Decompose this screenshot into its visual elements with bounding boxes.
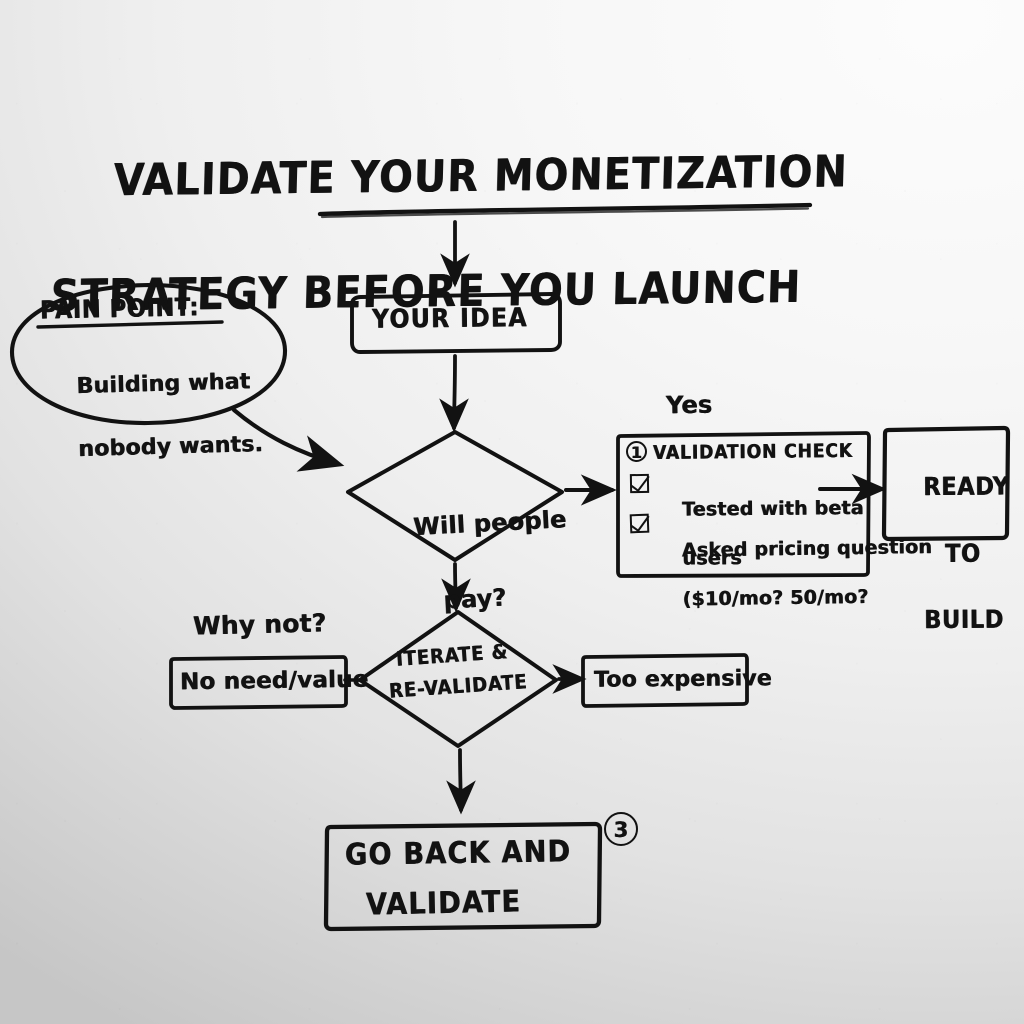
pain-point-heading: PAIN POINT: — [40, 294, 199, 324]
node-decision-pay-label[interactable]: Will people pay? — [376, 466, 536, 660]
title-line-1: VALIDATE YOUR MONETIZATION — [113, 146, 848, 206]
edge-label-yes: Yes — [666, 393, 713, 419]
whiteboard-canvas: VALIDATE YOUR MONETIZATION STRATEGY BEFO… — [0, 0, 1024, 1024]
checkbox-checked-icon[interactable] — [630, 514, 650, 534]
validation-item-2-line-2: ($10/mo? 50/mo? — [682, 586, 868, 611]
pain-point-body-line-1: Building what — [76, 370, 250, 400]
node-go-back-line-2[interactable]: VALIDATE — [366, 886, 522, 921]
checkbox-checked-icon[interactable] — [630, 474, 649, 493]
pain-point-body: Building what nobody wants. — [44, 335, 265, 497]
ready-line-2: TO — [945, 539, 981, 568]
pain-point-body-line-2: nobody wants. — [78, 432, 263, 462]
node-no-need-label[interactable]: No need/value — [180, 668, 369, 695]
ready-line-3: BUILD — [924, 605, 1004, 635]
node-go-back-line-1[interactable]: GO BACK AND — [345, 836, 572, 871]
decision-pay-line-2: pay? — [443, 583, 507, 614]
node-ready-to-build-label[interactable]: READY TO BUILD — [889, 437, 1003, 671]
validation-check-title: VALIDATION CHECK — [653, 441, 853, 463]
arrow-iterate-to-goback — [460, 750, 461, 810]
edge-label-why-not: Why not? — [193, 610, 327, 640]
validation-step-number: 1 — [626, 441, 647, 462]
go-back-step-number: 3 — [604, 812, 638, 846]
node-too-expensive-label[interactable]: Too expensive — [594, 667, 772, 692]
node-idea-label[interactable]: YOUR IDEA — [372, 305, 528, 334]
ready-line-1: READY — [923, 472, 1009, 502]
